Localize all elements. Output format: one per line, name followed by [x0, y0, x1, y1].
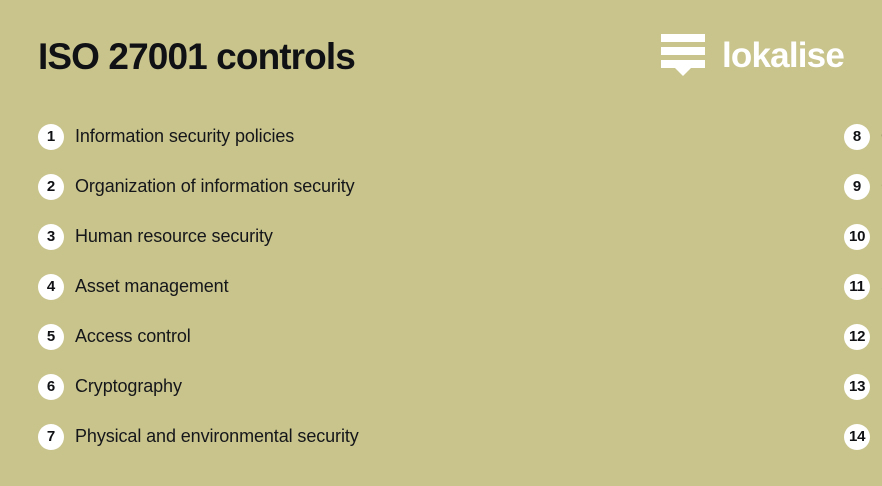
stacked-bars-chevron-icon	[661, 34, 705, 76]
item-number-badge: 13	[844, 374, 870, 400]
item-label: Information security policies	[75, 127, 294, 147]
list-item: 12 Security incident management	[844, 312, 882, 362]
list-item: 2 Organization of information security	[38, 162, 404, 212]
item-label: Asset management	[75, 277, 228, 297]
brand-name: lokalise	[722, 38, 844, 73]
item-number-badge: 4	[38, 274, 64, 300]
item-number-badge: 11	[844, 274, 870, 300]
item-number-badge: 2	[38, 174, 64, 200]
list-item: 6 Cryptography	[38, 362, 404, 412]
controls-column-right: 8 Operations security 9 Communications s…	[404, 112, 882, 462]
list-item: 7 Physical and environmental security	[38, 412, 404, 462]
lokalise-logo: lokalise	[661, 34, 844, 78]
slide-header: ISO 27001 controls lokalise	[38, 28, 844, 84]
item-number-badge: 7	[38, 424, 64, 450]
list-item: 8 Operations security	[844, 112, 882, 162]
list-item: 3 Human resource security	[38, 212, 404, 262]
item-label: Human resource security	[75, 227, 273, 247]
item-number-badge: 12	[844, 324, 870, 350]
list-item: 11 Supplier relationships	[844, 262, 882, 312]
list-item: 4 Asset management	[38, 262, 404, 312]
item-number-badge: 8	[844, 124, 870, 150]
item-number-badge: 10	[844, 224, 870, 250]
item-number-badge: 9	[844, 174, 870, 200]
item-label: Access control	[75, 327, 191, 347]
list-item: 13 Business continuity management	[844, 362, 882, 412]
item-number-badge: 5	[38, 324, 64, 350]
list-item: 5 Access control	[38, 312, 404, 362]
item-number-badge: 6	[38, 374, 64, 400]
item-label: Organization of information security	[75, 177, 355, 197]
item-number-badge: 1	[38, 124, 64, 150]
item-number-badge: 3	[38, 224, 64, 250]
list-item: 10 System acquisition and maintenence	[844, 212, 882, 262]
list-item: 1 Information security policies	[38, 112, 404, 162]
controls-column-left: 1 Information security policies 2 Organi…	[0, 112, 404, 462]
list-item: 9 Communications security	[844, 162, 882, 212]
item-label: Physical and environmental security	[75, 427, 359, 447]
controls-list: 1 Information security policies 2 Organi…	[0, 112, 882, 462]
item-label: Cryptography	[75, 377, 182, 397]
page-title: ISO 27001 controls	[38, 38, 355, 75]
slide-canvas: ISO 27001 controls lokalise 1 Informatio…	[0, 0, 882, 486]
item-number-badge: 14	[844, 424, 870, 450]
list-item: 14 Compliance	[844, 412, 882, 462]
